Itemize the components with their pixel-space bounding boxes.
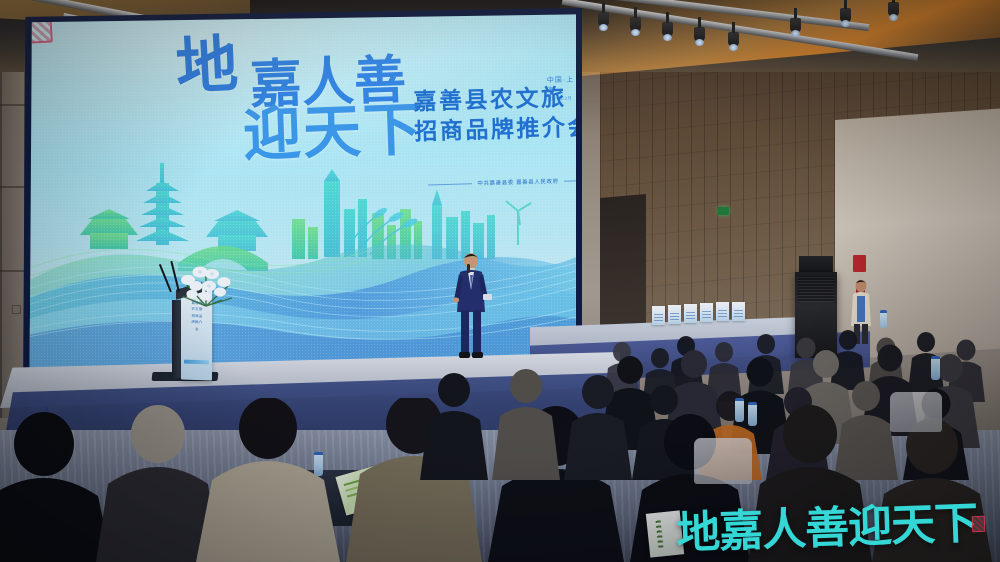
watermark-text: 地嘉人善迎天下 — [675, 487, 978, 561]
speaker-presenter — [450, 250, 492, 360]
water-bottle — [880, 310, 887, 328]
lectern-panel-accent — [184, 360, 209, 365]
chair-back — [890, 392, 942, 432]
microphone-icon — [159, 264, 172, 293]
water-bottle — [931, 356, 940, 380]
chair-back — [694, 438, 752, 484]
watermark-seal-icon — [972, 516, 986, 532]
conference-stage-photo: 地 嘉人善 迎天下 中国·上海 2024年3月 嘉善县农文旅 招商品牌推介会 中… — [0, 0, 1000, 562]
audience-mid-left — [420, 360, 640, 480]
water-bottle — [748, 402, 757, 426]
water-bottle — [735, 398, 744, 422]
flower-arrangement — [176, 256, 238, 308]
